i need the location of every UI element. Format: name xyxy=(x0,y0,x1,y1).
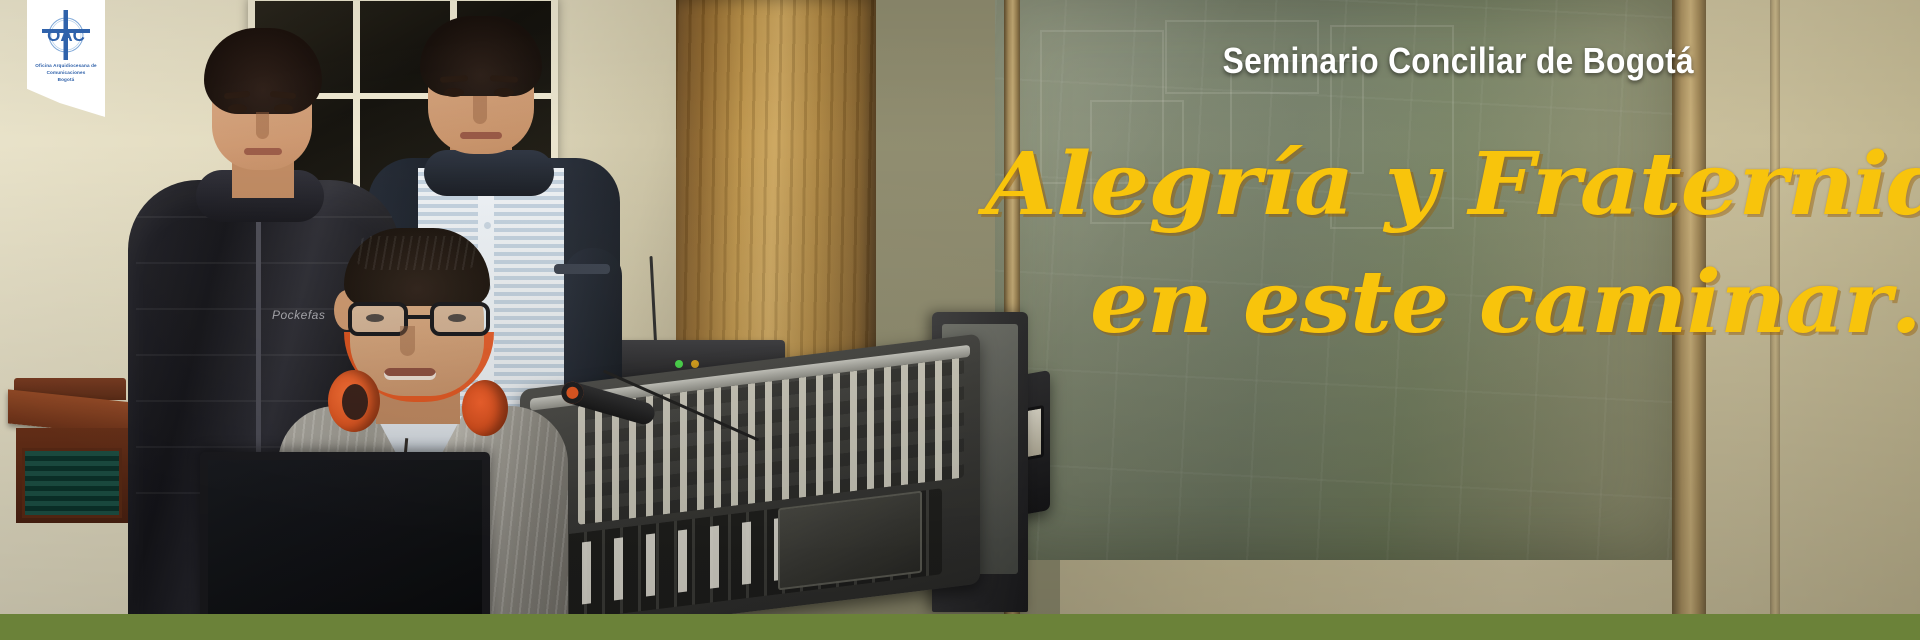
status-led xyxy=(691,360,699,368)
oac-caption-line-2: Comunicaciones xyxy=(27,69,105,76)
oac-logo-caption: Oficina Arquidiocesana de Comunicaciones… xyxy=(27,62,105,83)
eyeglasses xyxy=(346,302,492,336)
oac-caption-line-3: Bogotá xyxy=(27,76,105,83)
wooden-side-table xyxy=(8,378,133,518)
table-louver xyxy=(22,448,122,518)
nose xyxy=(256,112,269,139)
oac-caption-line-1: Oficina Arquidiocesana de xyxy=(27,62,105,69)
headphone-cup-right xyxy=(462,380,508,436)
mouth xyxy=(384,368,436,380)
monitor-screen xyxy=(208,460,482,634)
hair xyxy=(344,228,490,306)
eye xyxy=(274,104,293,113)
eye xyxy=(444,88,464,97)
eye xyxy=(494,88,514,97)
nose xyxy=(400,326,415,356)
seminary-photo-banner: Pockefas xyxy=(0,0,1920,640)
lens-left xyxy=(348,302,408,336)
banner-script-line-1: Alegría y Fraternidad xyxy=(985,134,1920,235)
computer-monitor xyxy=(200,452,490,640)
mouth xyxy=(244,148,282,155)
eye xyxy=(228,104,247,113)
banner-script-line-2: en este caminar… xyxy=(1090,252,1920,353)
nose xyxy=(473,96,487,124)
bottom-green-bar xyxy=(0,614,1920,640)
jacket-collar xyxy=(424,150,554,196)
mouth xyxy=(460,132,502,139)
svg-text:OAC: OAC xyxy=(47,26,85,45)
banner-headline: Seminario Conciliar de Bogotá xyxy=(203,40,1694,82)
status-led xyxy=(675,360,683,368)
oac-cross-icon: OAC xyxy=(36,8,96,62)
lens-right xyxy=(430,302,490,336)
headphone-pad xyxy=(342,384,368,420)
glasses-bridge xyxy=(408,315,430,319)
